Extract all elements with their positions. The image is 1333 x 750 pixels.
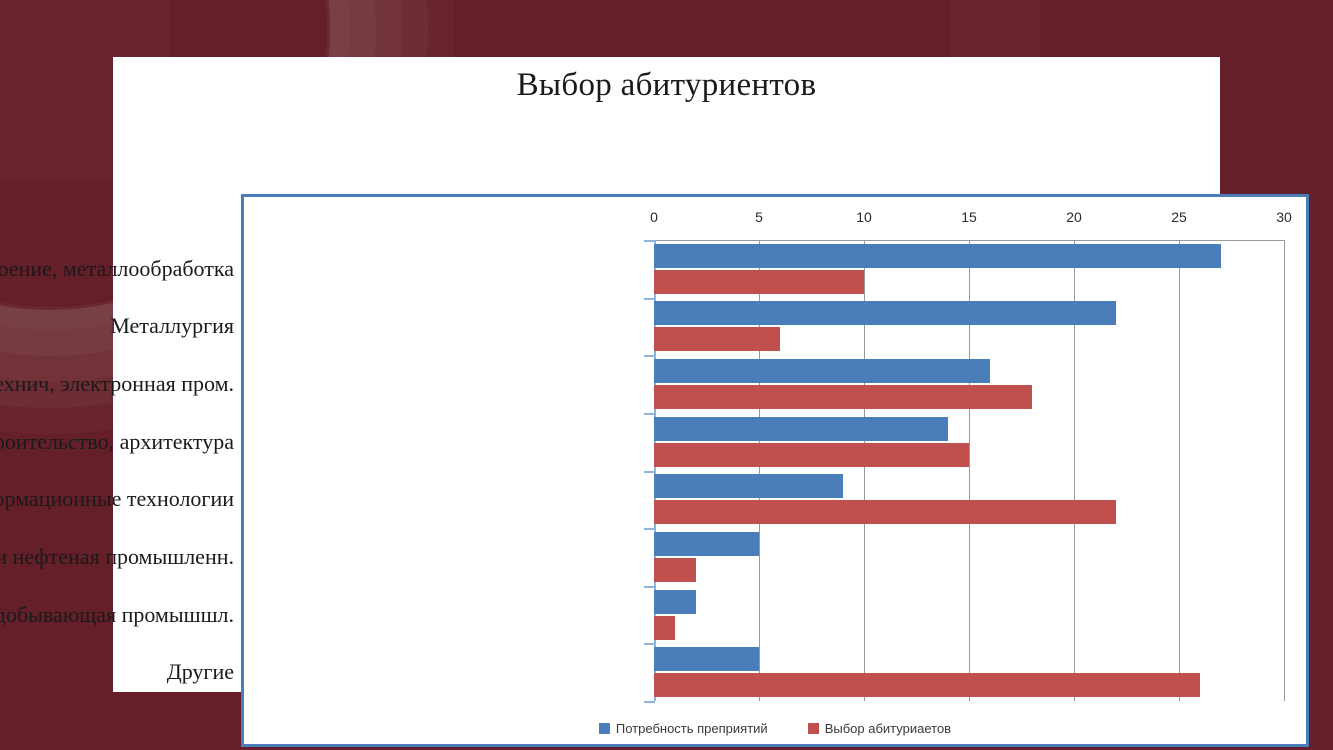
bar[interactable] (654, 270, 864, 294)
x-axis-tick-label: 5 (755, 209, 763, 225)
category-label: Химическая и нефтеная промышленн. (0, 544, 234, 570)
bar[interactable] (654, 673, 1200, 697)
bar[interactable] (654, 443, 969, 467)
category-label: Машиностроение, металлообработка (0, 256, 234, 282)
bar[interactable] (654, 327, 780, 351)
category-label: Электротехнич, электронная пром. (0, 371, 234, 397)
legend-label: Потребность преприятий (616, 721, 768, 736)
bar[interactable] (654, 616, 675, 640)
bar[interactable] (654, 359, 990, 383)
x-axis-tick-label: 20 (1066, 209, 1082, 225)
legend-swatch-icon (599, 723, 610, 734)
bar[interactable] (654, 558, 696, 582)
bar[interactable] (654, 474, 843, 498)
bar[interactable] (654, 647, 759, 671)
category-label: Сырьевая и добывающая промышшл. (0, 602, 234, 628)
legend-item[interactable]: Потребность преприятий (599, 721, 768, 736)
gridline (1284, 240, 1285, 701)
legend-label: Выбор абитуриаетов (825, 721, 951, 736)
bar[interactable] (654, 500, 1116, 524)
legend-item[interactable]: Выбор абитуриаетов (808, 721, 951, 736)
category-tick (644, 701, 655, 703)
x-axis-tick-label: 30 (1276, 209, 1292, 225)
x-axis-tick-label: 0 (650, 209, 658, 225)
category-label: Металлургия (110, 313, 234, 339)
page-title: Выбор абитуриентов (113, 67, 1220, 104)
category-label: Другие (167, 659, 234, 685)
gridline (1179, 240, 1180, 701)
x-axis-tick-label: 15 (961, 209, 977, 225)
category-label: Информационные технологии (0, 486, 234, 512)
bar[interactable] (654, 385, 1032, 409)
bar[interactable] (654, 590, 696, 614)
legend-swatch-icon (808, 723, 819, 734)
bar[interactable] (654, 244, 1221, 268)
category-label: Строительство, архитектура (0, 429, 234, 455)
slide-panel: Выбор абитуриентов 051015202530 Машиност… (113, 57, 1220, 692)
bar[interactable] (654, 417, 948, 441)
chart-inner: 051015202530 Машиностроение, металлообра… (244, 197, 1306, 744)
x-axis-tick-label: 25 (1171, 209, 1187, 225)
chart-legend: Потребность преприятийВыбор абитуриаетов (244, 721, 1306, 736)
chart-object[interactable]: 051015202530 Машиностроение, металлообра… (241, 194, 1309, 747)
bar[interactable] (654, 532, 759, 556)
bar[interactable] (654, 301, 1116, 325)
x-axis-tick-label: 10 (856, 209, 872, 225)
